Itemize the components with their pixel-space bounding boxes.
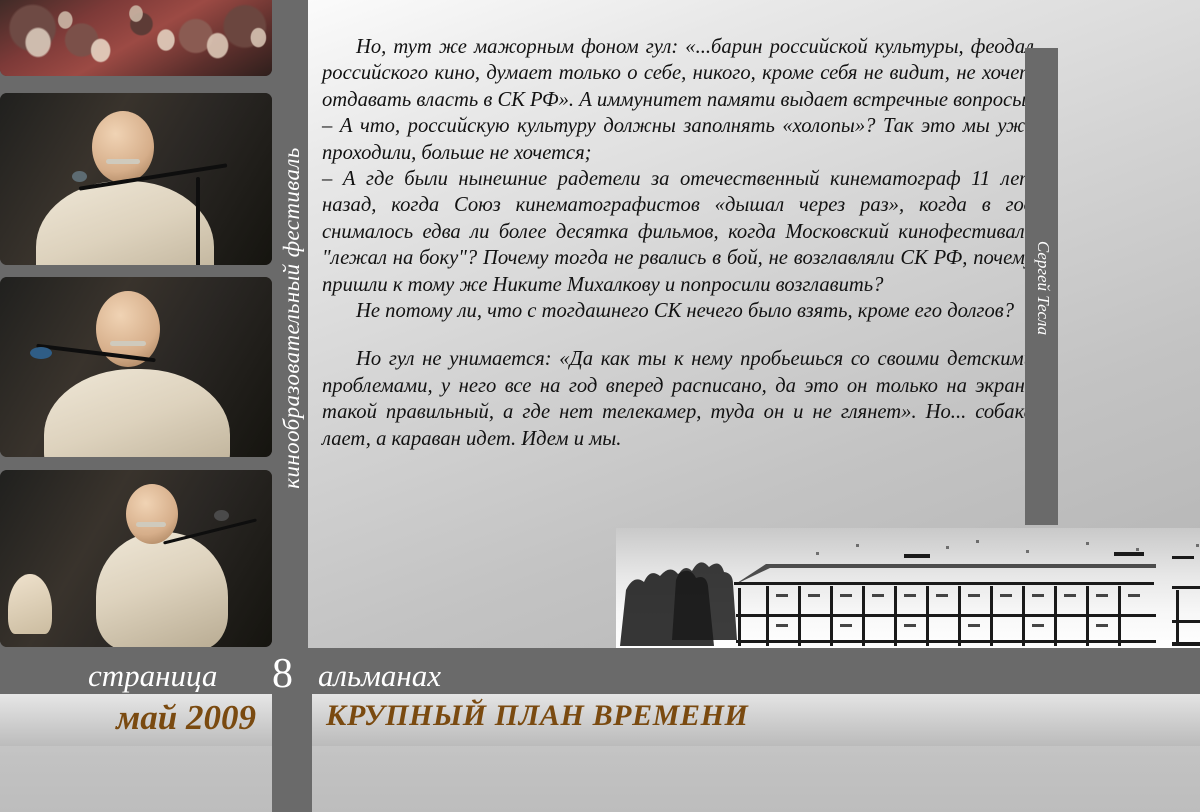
footer-page-line: страница 8 альманах [0, 658, 1200, 694]
section-title-panel: КРУПНЫЙ ПЛАН ВРЕМЕНИ [312, 694, 1200, 746]
author-vertical-bar: Сергей Тесла [1025, 48, 1058, 525]
issue-date: май 2009 [116, 698, 256, 738]
article-paragraph: Не потому ли, что с тогдашнего СК нечего… [322, 298, 1034, 324]
article-content-panel: Но, тут же мажорным фоном гул: «...барин… [308, 0, 1200, 648]
festival-label: кинообразовательный фестиваль [279, 8, 305, 628]
festival-vertical-strip: кинообразовательный фестиваль [272, 0, 308, 648]
page-number: 8 [272, 650, 293, 698]
date-panel: май 2009 [0, 694, 272, 746]
photo-speaker-standing-at-microphone [0, 470, 272, 647]
author-name: Сергей Тесла [1033, 158, 1053, 418]
article-paragraph: Но, тут же мажорным фоном гул: «...барин… [322, 34, 1034, 113]
article-paragraph: – А что, российскую культуру должны запо… [322, 113, 1034, 166]
photo-speaker-at-microphone-smiling [0, 93, 272, 265]
section-title: КРУПНЫЙ ПЛАН ВРЕМЕНИ [326, 699, 748, 733]
magazine-page: кинообразовательный фестиваль Но, тут же… [0, 0, 1200, 812]
photo-speaker-at-microphone-gesturing [0, 277, 272, 457]
photo-column [0, 0, 272, 648]
skyline-halftone-graphic [616, 528, 1200, 648]
photo-audience-in-theatre-seats [0, 0, 272, 76]
footer-gap-column [272, 694, 312, 812]
article-body: Но, тут же мажорным фоном гул: «...барин… [322, 34, 1034, 452]
article-paragraph: – А где были нынешние радетели за отечес… [322, 166, 1034, 298]
almanac-word: альманах [318, 658, 441, 694]
article-paragraph: Но гул не унимается: «Да как ты к нему п… [322, 346, 1034, 452]
page-word: страница [88, 658, 217, 694]
